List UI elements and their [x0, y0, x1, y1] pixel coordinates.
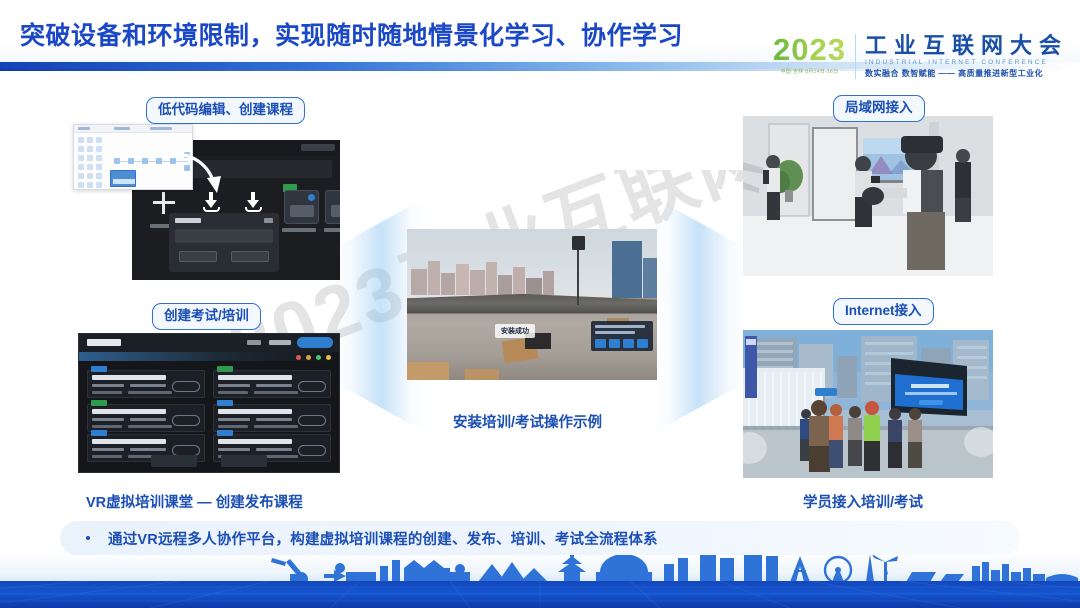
logo-name-en: INDUSTRIAL INTERNET CONFERENCE [865, 59, 1068, 66]
course-card[interactable] [87, 404, 205, 432]
flow-node[interactable] [156, 158, 162, 164]
flow-editor-toolbar [74, 125, 192, 133]
callout-lowcode-edit[interactable]: 低代码编辑、创建课程 [146, 97, 305, 124]
course-panel-title [87, 339, 121, 346]
modal-cancel-button[interactable] [179, 251, 217, 262]
editor-modal-dialog[interactable] [169, 213, 279, 272]
course-card[interactable] [213, 370, 331, 398]
modal-title [175, 218, 201, 223]
caption-center: 安装培训/考试操作示例 [453, 411, 602, 432]
course-action-button[interactable] [172, 381, 200, 392]
scene-building [411, 269, 427, 295]
footer-sea-band [0, 581, 1080, 608]
flow-node[interactable] [128, 158, 134, 164]
vr-headset-room-photo [743, 116, 993, 276]
bullet-marker-icon [86, 536, 90, 540]
logo-slogan: 数实融合 数智赋能 —— 高质量推进新型工业化 [865, 68, 1068, 79]
next-page-button[interactable] [221, 455, 267, 467]
scene-building [470, 270, 485, 295]
course-menu-item[interactable] [269, 340, 291, 345]
editor-caption [282, 228, 316, 232]
create-course-button[interactable] [297, 337, 333, 348]
course-panel-header [79, 334, 339, 352]
vr-hud-tool-icons[interactable] [595, 339, 648, 348]
course-action-button[interactable] [298, 445, 326, 456]
callout-lan-access[interactable]: 局域网接入 [833, 95, 925, 122]
vr-hud-panel[interactable] [591, 321, 653, 351]
vr-rooftop-training-scene[interactable]: 安装成功 [407, 229, 657, 380]
download-icon[interactable] [245, 192, 262, 212]
course-action-button[interactable] [298, 415, 326, 426]
logo-divider [855, 34, 856, 79]
scene-building [456, 264, 469, 295]
logo-year-block: 2023 中国·吉林 8月14日-16日 [773, 34, 855, 75]
course-card[interactable] [213, 404, 331, 432]
play-icon [308, 194, 315, 201]
scene-building [543, 271, 554, 295]
caption-left: VR虚拟培训课堂 — 创建发布课程 [86, 491, 303, 512]
conference-logo: 2023 中国·吉林 8月14日-16日 工业互联网大会 INDUSTRIAL … [773, 34, 1068, 79]
editor-user-chip [301, 144, 335, 151]
scene-carton [465, 369, 499, 380]
scene-antenna-tripod [577, 247, 579, 305]
scene-building [526, 278, 542, 295]
close-icon[interactable] [264, 218, 273, 223]
summary-bullet-bar: 通过VR远程多人协作平台，构建虚拟培训课程的创建、发布、培训、考试全流程体系 [60, 521, 1020, 555]
scene-building [441, 273, 455, 295]
scene-toast-message: 安装成功 [495, 324, 535, 338]
footer-skyline [0, 552, 1080, 608]
scene-building [513, 267, 525, 295]
flow-preview-thumbnail[interactable] [110, 170, 136, 187]
logo-name-block: 工业互联网大会 INDUSTRIAL INTERNET CONFERENCE 数… [865, 34, 1068, 79]
callout-create-exam[interactable]: 创建考试/培训 [152, 303, 261, 330]
caption-right: 学员接入培训/考试 [803, 491, 923, 512]
light-beam-right [651, 196, 747, 434]
course-menu-item[interactable] [247, 340, 261, 345]
virtual-city-avatars-photo [743, 330, 993, 478]
scene-carton [407, 362, 449, 380]
flow-arrow-icon [170, 148, 230, 202]
logo-name-cn: 工业互联网大会 [865, 34, 1068, 57]
flow-node[interactable] [142, 158, 148, 164]
course-list-panel[interactable] [78, 333, 340, 473]
modal-confirm-button[interactable] [231, 251, 269, 262]
logo-year: 2023 [773, 34, 846, 65]
page-title: 突破设备和环境限制，实现随时随地情景化学习、协作学习 [20, 16, 683, 52]
footer-grid-lines [0, 581, 1080, 608]
scene-building [498, 275, 512, 295]
modal-text-input[interactable] [175, 229, 273, 243]
slide-root: 2023工业互联网大会 突破设备和环境限制，实现随时随地情景化学习、协作学习 2… [0, 0, 1080, 608]
course-action-button[interactable] [172, 415, 200, 426]
course-action-button[interactable] [298, 381, 326, 392]
flow-node[interactable] [114, 158, 120, 164]
course-card[interactable] [87, 370, 205, 398]
bullet-text: 通过VR远程多人协作平台，构建虚拟培训课程的创建、发布、培训、考试全流程体系 [108, 528, 658, 549]
logo-year-subtitle: 中国·吉林 8月14日-16日 [773, 68, 846, 75]
editor-caption [324, 228, 340, 232]
prev-page-button[interactable] [151, 455, 197, 467]
scene-building [486, 262, 497, 295]
window-controls[interactable] [296, 355, 331, 360]
flow-node-palette[interactable] [78, 137, 106, 190]
course-thumb-card[interactable] [284, 190, 319, 224]
callout-internet-access[interactable]: Internet接入 [833, 298, 934, 325]
scene-building [428, 261, 440, 295]
course-thumb-card[interactable] [325, 190, 340, 224]
